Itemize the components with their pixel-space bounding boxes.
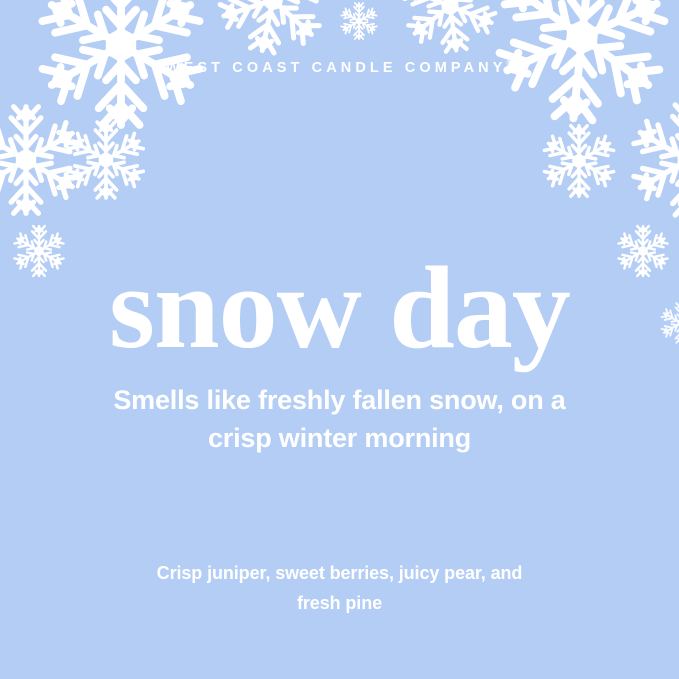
tagline-line-1: Smells like freshly fallen snow, on a bbox=[60, 381, 619, 419]
scent-notes-line-1: Crisp juniper, sweet berries, juicy pear… bbox=[85, 558, 594, 588]
product-title: snow day bbox=[0, 246, 679, 370]
product-label-canvas: WEST COAST CANDLE COMPANY® snow day Smel… bbox=[0, 0, 679, 679]
tagline-line-2: crisp winter morning bbox=[60, 419, 619, 457]
scent-notes: Crisp juniper, sweet berries, juicy pear… bbox=[0, 558, 679, 618]
brand-name: WEST COAST CANDLE COMPANY® bbox=[0, 58, 679, 76]
brand-name-text: WEST COAST CANDLE COMPANY bbox=[166, 60, 507, 76]
label-content: WEST COAST CANDLE COMPANY® snow day Smel… bbox=[0, 0, 679, 679]
scent-notes-line-2: fresh pine bbox=[85, 588, 594, 618]
registered-trademark-symbol: ® bbox=[507, 58, 514, 68]
product-tagline: Smells like freshly fallen snow, on a cr… bbox=[0, 381, 679, 457]
